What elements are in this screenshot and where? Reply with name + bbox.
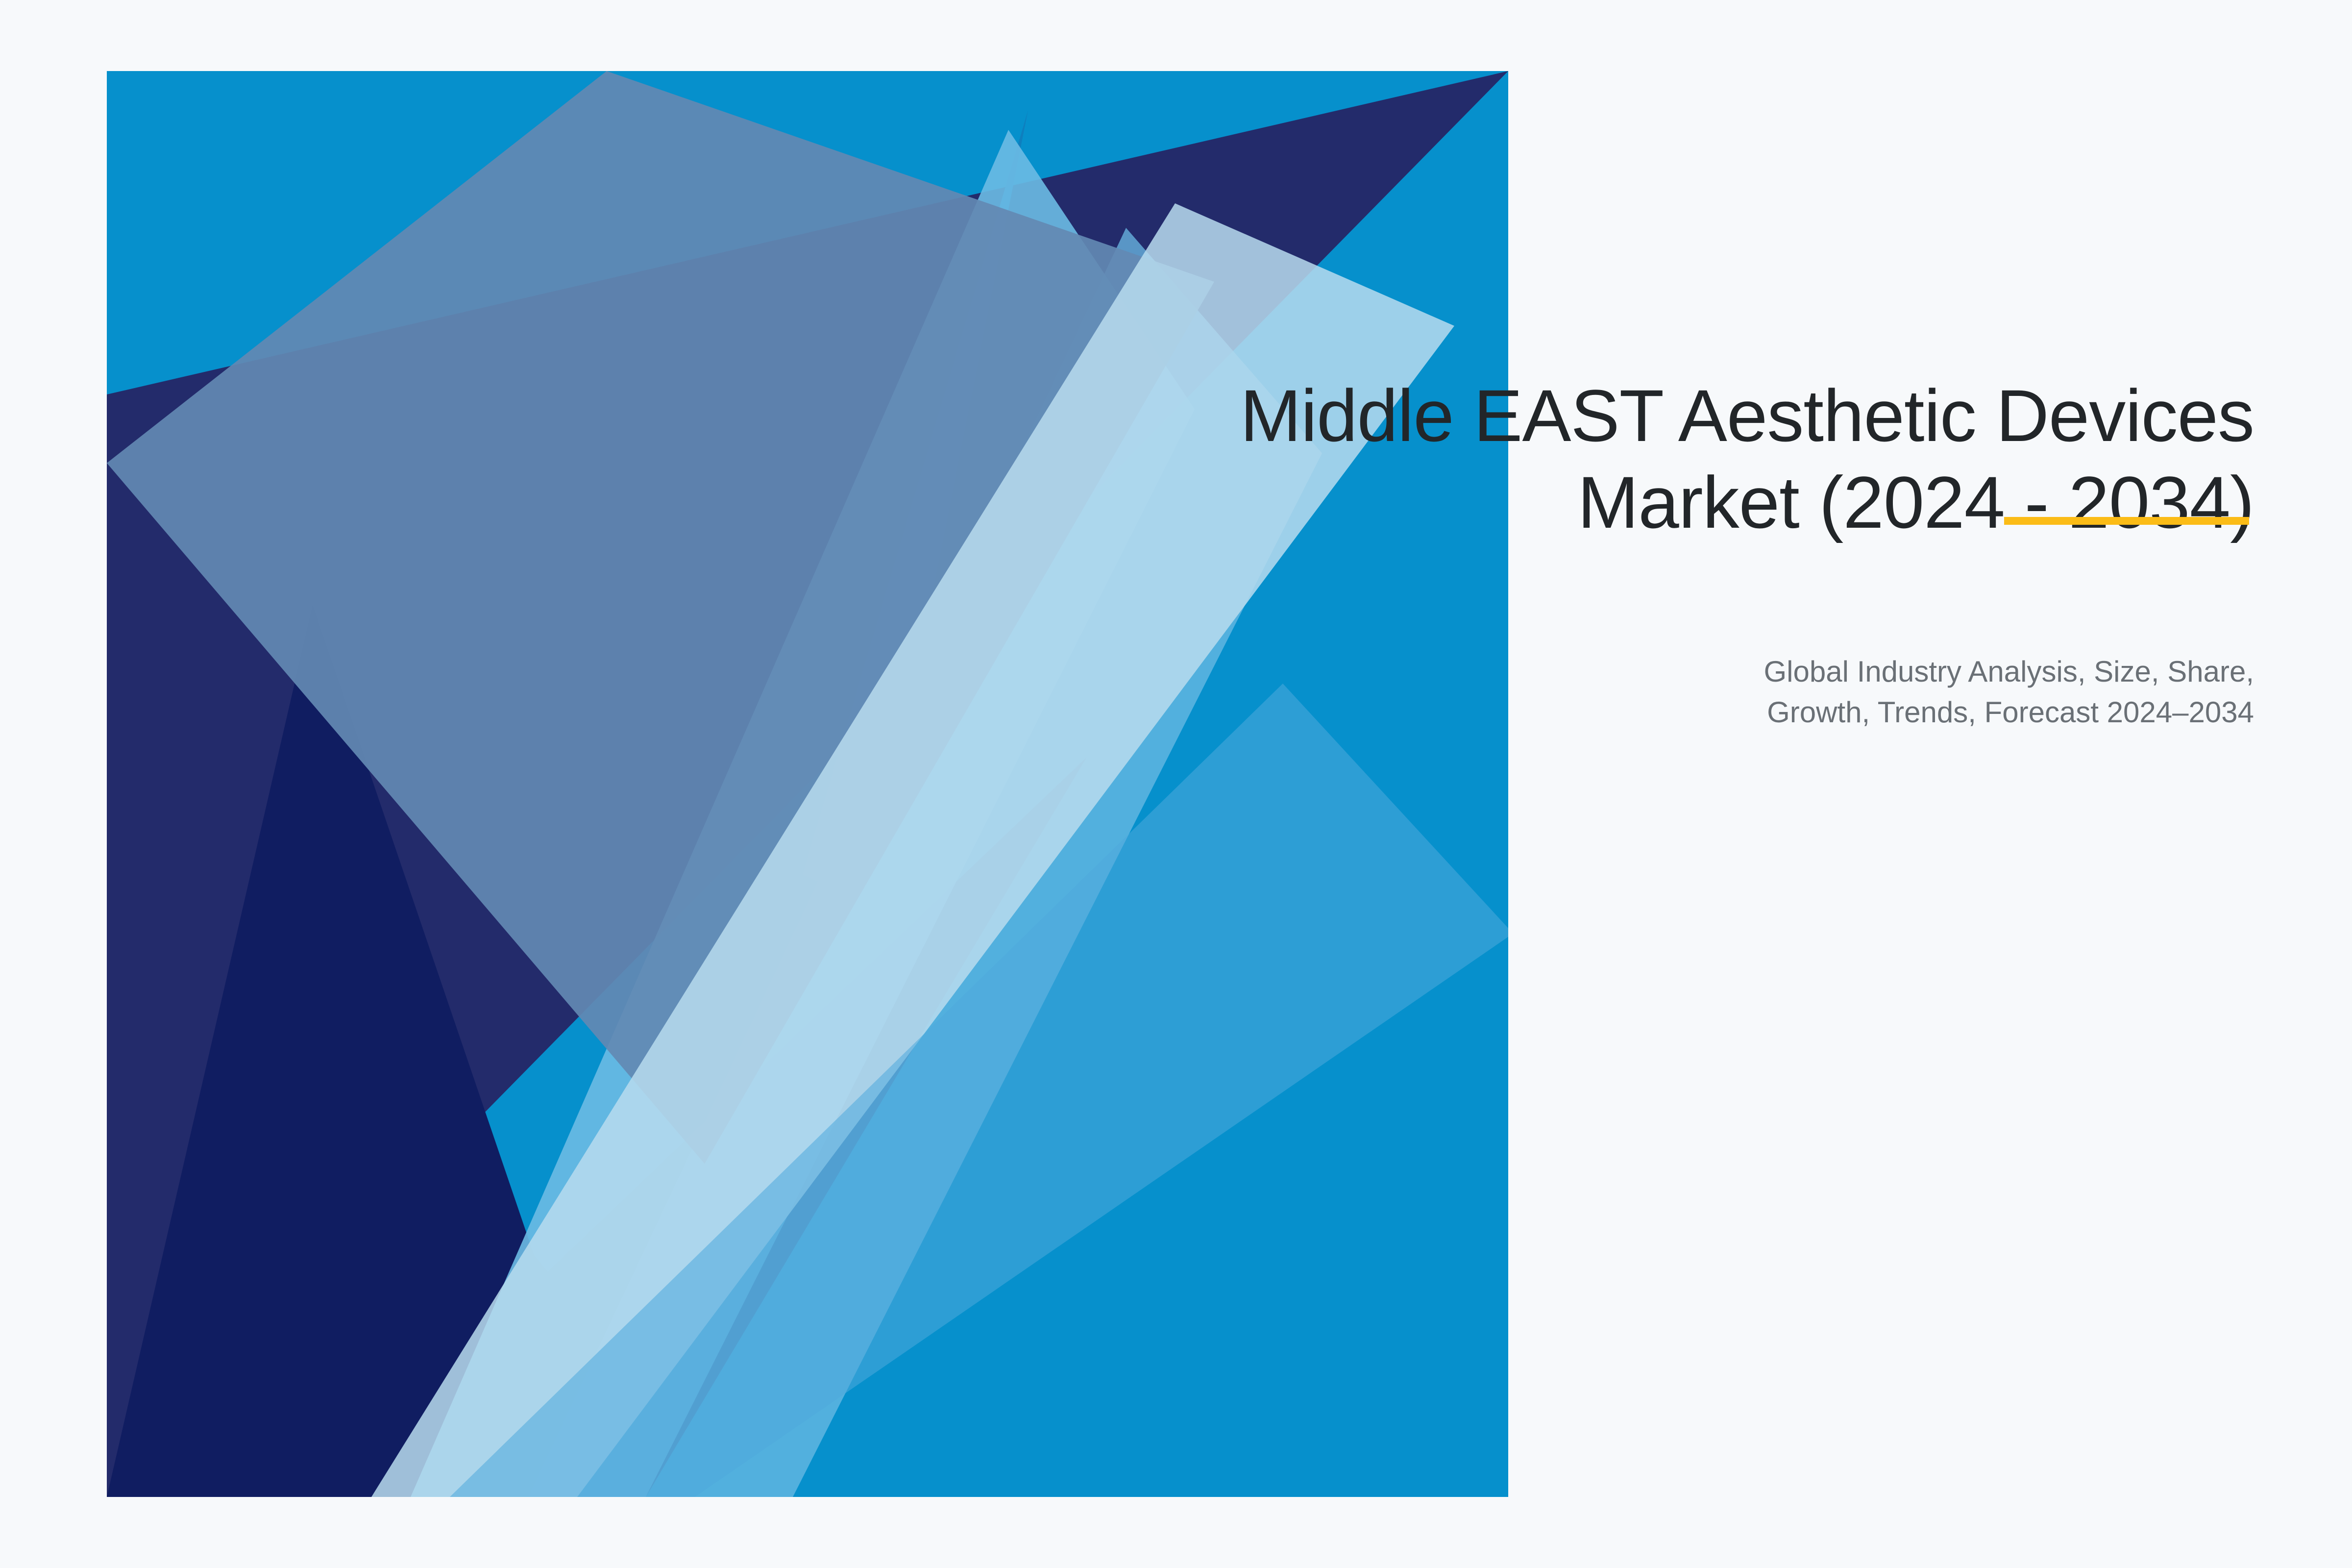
title-block: Middle EAST Aesthetic Devices Market (20… (1053, 372, 2254, 546)
title-underline-accent (2004, 517, 2249, 525)
cover-artwork (107, 71, 1508, 1497)
page-subtitle: Global Industry Analysis, Size, Share, G… (1053, 652, 2254, 733)
abstract-polygon-graphic (107, 71, 1508, 1497)
cover-page: Middle EAST Aesthetic Devices Market (20… (0, 0, 2352, 1568)
